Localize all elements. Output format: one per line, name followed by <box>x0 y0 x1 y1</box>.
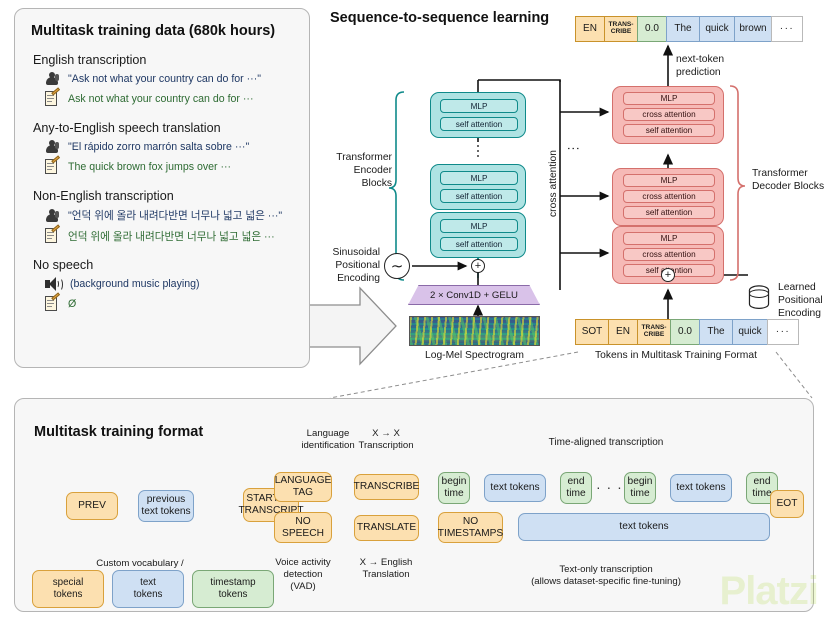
data-row: Ask not what your country can do for ··· <box>45 91 309 107</box>
encoder-mlp: MLP <box>440 99 518 113</box>
token-quick[interactable]: quick <box>732 319 768 345</box>
ellipsis-timestamps: · · · <box>596 479 623 495</box>
data-row: The quick brown fox jumps over ··· <box>45 159 309 175</box>
music-text: (background music playing) <box>70 278 200 290</box>
token-timestamp-00[interactable]: 0.0 <box>637 16 667 42</box>
decoder-mlp: MLP <box>623 232 715 245</box>
input-token-strip: SOT EN TRANS-CRIBE 0.0 The quick ··· <box>576 319 799 345</box>
encoder-self-attention: self attention <box>440 117 518 131</box>
transcript-document-icon <box>45 296 60 312</box>
decoder-cross-attention: cross attention <box>623 190 715 203</box>
person-speaking-icon <box>45 140 60 154</box>
speech-text: "El rápido zorro marrón salta sobre ···" <box>68 141 249 153</box>
token-ellipsis: ··· <box>767 319 799 345</box>
encoder-self-attention: self attention <box>440 189 518 203</box>
annotation-x-to-english-translation: X → EnglishTranslation <box>344 557 428 581</box>
log-mel-spectrogram-image <box>409 316 540 346</box>
token-ellipsis: ··· <box>771 16 803 42</box>
data-row: (background music playing) <box>45 277 309 291</box>
node-translate[interactable]: TRANSLATE <box>354 515 419 541</box>
tokens-caption: Tokens in Multitask Training Format <box>576 350 776 361</box>
data-group-english-transcription: English transcription "Ask not what your… <box>33 53 309 107</box>
spectrogram-caption: Log-Mel Spectrogram <box>409 350 540 361</box>
cross-attention-label: cross attention <box>548 150 559 217</box>
encoder-block-bottom: MLP self attention <box>430 212 526 258</box>
encoder-self-attention: self attention <box>440 237 518 251</box>
node-begin-time-2[interactable]: begintime <box>624 472 656 504</box>
group-heading: Any-to-English speech translation <box>33 121 309 135</box>
speaker-volume-icon <box>45 277 62 291</box>
node-text-tokens-1[interactable]: text tokens <box>484 474 546 502</box>
group-heading: Non-English transcription <box>33 189 309 203</box>
transcript-document-icon <box>45 91 60 107</box>
decoder-cross-attention: cross attention <box>623 248 715 261</box>
token-timestamp-00[interactable]: 0.0 <box>670 319 700 345</box>
data-group-speech-translation: Any-to-English speech translation "El rá… <box>33 121 309 175</box>
data-group-non-english-transcription: Non-English transcription "언덕 위에 올라 내려다반… <box>33 189 309 244</box>
person-speaking-icon <box>45 209 60 223</box>
token-the[interactable]: The <box>699 319 733 345</box>
annotation-time-aligned-transcription: Time-aligned transcription <box>526 437 686 450</box>
decoder-self-attention: self attention <box>623 206 715 219</box>
cross-attention-vertical-dots: ⋮ <box>566 142 581 156</box>
data-row: Ø <box>45 296 309 312</box>
node-no-speech[interactable]: NOSPEECH <box>274 512 332 543</box>
legend-timestamp-tokens: timestamptokens <box>192 570 274 608</box>
data-row: "Ask not what your country can do for ··… <box>45 72 309 86</box>
node-previous-text-tokens[interactable]: previoustext tokens <box>138 490 194 522</box>
node-language-tag[interactable]: LANGUAGETAG <box>274 472 332 502</box>
annotation-text-only-transcription: Text-only transcription(allows dataset-s… <box>516 564 696 588</box>
node-transcribe[interactable]: TRANSCRIBE <box>354 474 419 500</box>
token-en[interactable]: EN <box>575 16 605 42</box>
node-eot[interactable]: EOT <box>770 490 804 518</box>
person-speaking-icon <box>45 72 60 86</box>
legend-text-tokens: texttokens <box>112 570 184 608</box>
sinusoidal-positional-encoding-label: SinusoidalPositionalEncoding <box>330 247 380 286</box>
seq2seq-title: Sequence-to-sequence learning <box>330 10 549 26</box>
node-no-timestamps[interactable]: NOTIMESTAMPS <box>438 512 503 543</box>
transcript-text: 언덕 위에 올라 내려다반면 너무나 넓고 넓은 ··· <box>68 229 275 244</box>
data-group-no-speech: No speech (background music playing) Ø <box>33 258 309 312</box>
token-transcribe[interactable]: TRANS-CRIBE <box>604 16 638 42</box>
encoder-block-top: MLP self attention <box>430 92 526 138</box>
learned-positional-encoding-label: LearnedPositionalEncoding <box>778 282 828 321</box>
learned-embedding-database-icon <box>746 285 772 311</box>
data-row: "El rápido zorro marrón salta sobre ···" <box>45 140 309 154</box>
node-prev[interactable]: PREV <box>66 492 118 520</box>
conv1d-gelu-block: 2 × Conv1D + GELU <box>408 285 540 305</box>
data-row: 언덕 위에 올라 내려다반면 너무나 넓고 넓은 ··· <box>45 228 309 244</box>
data-row: "언덕 위에 올라 내려다반면 너무나 넓고 넓은 ···" <box>45 208 309 223</box>
sinusoidal-wave-icon: ∼ <box>384 253 410 279</box>
output-token-strip: EN TRANS-CRIBE 0.0 The quick brown ··· <box>576 16 803 42</box>
encoder-block-mid: MLP self attention <box>430 164 526 210</box>
node-text-tokens-long[interactable]: text tokens <box>518 513 770 541</box>
token-brown[interactable]: brown <box>734 16 772 42</box>
encoder-add-icon: + <box>471 259 485 273</box>
transcript-document-icon <box>45 159 60 175</box>
legend-special-tokens: specialtokens <box>32 570 104 608</box>
node-text-tokens-2[interactable]: text tokens <box>670 474 732 502</box>
decoder-mlp: MLP <box>623 92 715 105</box>
speech-text: "Ask not what your country can do for ··… <box>68 73 261 85</box>
transcript-text: The quick brown fox jumps over ··· <box>68 161 231 173</box>
token-transcribe[interactable]: TRANS-CRIBE <box>637 319 671 345</box>
node-begin-time-1[interactable]: begintime <box>438 472 470 504</box>
group-heading: English transcription <box>33 53 309 67</box>
transcript-text: Ask not what your country can do for ··· <box>68 93 253 105</box>
decoder-add-icon: + <box>661 268 675 282</box>
decoder-self-attention: self attention <box>623 124 715 137</box>
decoder-block-mid: MLP cross attention self attention <box>612 168 724 226</box>
decoder-block-top: MLP cross attention self attention <box>612 86 724 144</box>
token-quick[interactable]: quick <box>699 16 735 42</box>
transcript-text: Ø <box>68 298 76 310</box>
encoder-mlp: MLP <box>440 171 518 185</box>
encoder-bracket-label: TransformerEncoder Blocks <box>334 152 392 191</box>
token-en[interactable]: EN <box>608 319 638 345</box>
token-the[interactable]: The <box>666 16 700 42</box>
decoder-cross-attention: cross attention <box>623 108 715 121</box>
annotation-x-to-x-transcription: X → XTranscription <box>344 428 428 452</box>
watermark: Platzi <box>720 569 818 614</box>
group-heading: No speech <box>33 258 309 272</box>
next-token-prediction-label: next-tokenprediction <box>676 54 724 80</box>
node-end-time-1[interactable]: endtime <box>560 472 592 504</box>
decoder-bracket-label: TransformerDecoder Blocks <box>752 168 826 194</box>
token-sot[interactable]: SOT <box>575 319 609 345</box>
decoder-mlp: MLP <box>623 174 715 187</box>
multitask-training-data-panel: Multitask training data (680k hours) Eng… <box>14 8 310 368</box>
encoder-mlp: MLP <box>440 219 518 233</box>
speech-text: "언덕 위에 올라 내려다반면 너무나 넓고 넓은 ···" <box>68 208 282 223</box>
transcript-document-icon <box>45 228 60 244</box>
format-panel-title: Multitask training format <box>34 424 203 440</box>
data-panel-title: Multitask training data (680k hours) <box>31 23 309 39</box>
